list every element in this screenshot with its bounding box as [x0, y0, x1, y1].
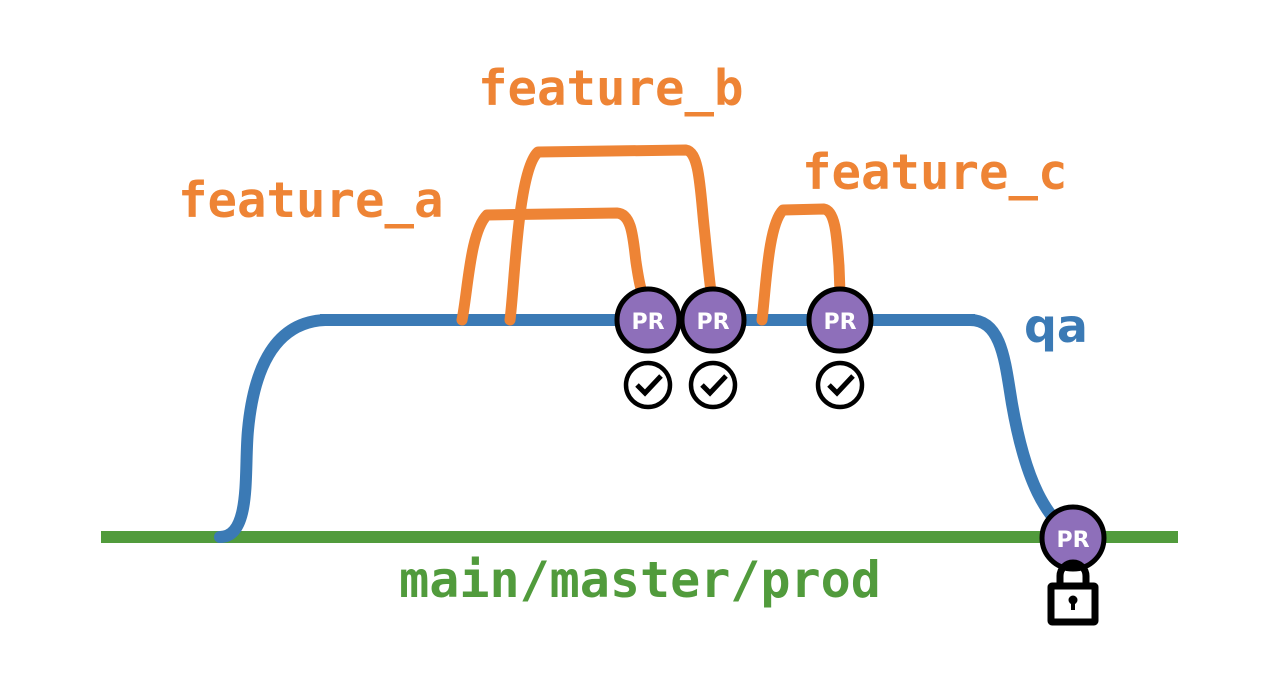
branch-label-feature-c: feature_c [802, 144, 1068, 201]
branch-label-qa: qa [1024, 299, 1088, 353]
check-circle-outline [818, 363, 862, 407]
feature-b-path [510, 150, 713, 320]
pr-node-label: PR [631, 310, 664, 335]
branch-label-feature-b: feature_b [478, 60, 744, 117]
pr-node-3[interactable]: PR [809, 289, 871, 351]
check-circle-icon[interactable] [818, 363, 862, 407]
pr-node-1[interactable]: PR [617, 289, 679, 351]
git-branch-diagram: PR PR PR PR [0, 0, 1288, 678]
pr-node-label: PR [823, 310, 856, 335]
lock-icon[interactable] [1051, 563, 1095, 622]
pr-node-label: PR [696, 310, 729, 335]
qa-branch-rise [220, 320, 325, 537]
check-circle-icon[interactable] [626, 363, 670, 407]
check-circle-outline [691, 363, 735, 407]
pr-node-label: PR [1056, 528, 1089, 553]
branch-line-feature-b [510, 150, 713, 320]
pr-node-2[interactable]: PR [682, 289, 744, 351]
check-circle-icon[interactable] [691, 363, 735, 407]
branch-label-main: main/master/prod [399, 551, 881, 609]
branch-label-feature-a: feature_a [178, 172, 444, 229]
check-circle-outline [626, 363, 670, 407]
git-flow-canvas: PR PR PR PR [0, 0, 1288, 678]
